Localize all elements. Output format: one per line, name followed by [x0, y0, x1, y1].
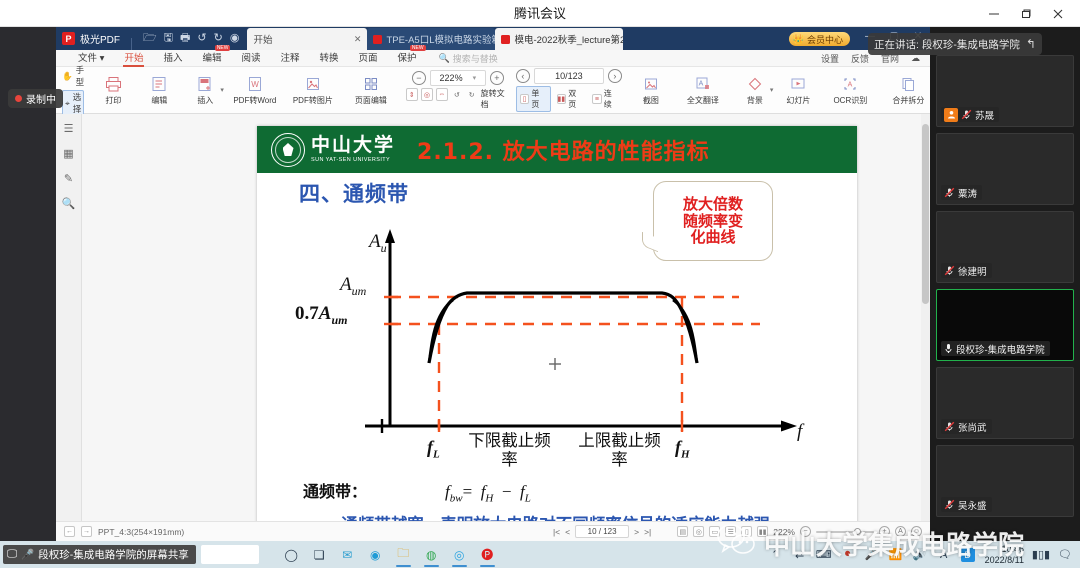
- participant-name: 张尚武: [958, 420, 987, 434]
- svg-text:A: A: [698, 80, 703, 87]
- insert-icon: [196, 75, 214, 93]
- merge-icon: [899, 75, 917, 93]
- slideshow-icon: [789, 75, 807, 93]
- pdf-quick-access-toolbar: 🗁 🖫 🖶 ↺ ↻ ◉: [135, 27, 247, 50]
- thumbnail-list-icon[interactable]: ☰: [61, 120, 77, 136]
- participant-tile-active-speaker[interactable]: 段权珍-集成电路学院: [936, 289, 1074, 361]
- annotation-upper-cutoff: 上限截止频率: [572, 431, 667, 470]
- pdf-ribbon: ✋ 手型 ⌖ 选择 打: [56, 67, 930, 114]
- continuous-label: 连续: [604, 88, 619, 110]
- settings-link[interactable]: 设置: [821, 52, 839, 65]
- print-button[interactable]: 打印: [90, 68, 136, 113]
- y-tick-aum: Aum: [340, 274, 366, 299]
- record-icon[interactable]: ⏺: [841, 548, 855, 562]
- monitor-icon: 🖵: [7, 548, 17, 561]
- tab-document-2[interactable]: 模电-2022秋季_lecture第2... ✕: [495, 28, 623, 50]
- active-speaker-label: 正在讲话: 段权珍-集成电路学院: [874, 37, 1020, 52]
- select-tool-label: 选择: [73, 91, 82, 115]
- background-icon: [746, 75, 764, 93]
- wechat-icon[interactable]: ◎: [451, 546, 468, 563]
- view-double-icon[interactable]: ▮▮: [757, 526, 768, 537]
- chevron-down-icon[interactable]: ▾: [473, 74, 477, 82]
- image-icon: [304, 75, 322, 93]
- mic-on-icon: [944, 343, 953, 354]
- mic-icon[interactable]: 🎤: [865, 548, 879, 562]
- menu-read-label: 阅读: [241, 53, 260, 64]
- clock-date: 2022/8/11: [985, 555, 1024, 565]
- participant-name-chip: 段权珍-集成电路学院: [941, 341, 1050, 356]
- redo-icon[interactable]: ↻: [214, 33, 223, 44]
- participant-name: 粟涛: [958, 186, 977, 200]
- menu-convert-label: 转换: [320, 53, 339, 64]
- participant-tile[interactable]: 粟涛: [936, 133, 1074, 205]
- status-page-value: 10 / 123: [588, 527, 617, 536]
- background-label: 背景: [747, 95, 763, 106]
- tab-document-1-label: TPE-A5口L模拟电路实验箱...: [386, 32, 495, 46]
- sysu-logo-icon: [271, 133, 305, 167]
- reading-mode-icon[interactable]: A: [895, 526, 906, 537]
- participant-name-chip: 苏晟: [941, 107, 999, 122]
- windows-taskbar: 🖵 🎤 段权珍-集成电路学院的屏幕共享 ◯ ❏ ✉ ◉ 🗀 ◍ ◎ 🅟 ⌃ ⇄ …: [0, 541, 1080, 568]
- merge-split-button[interactable]: 合并拆分: [879, 68, 930, 113]
- mic-muted-icon: [961, 109, 972, 120]
- zoom-in-small-icon[interactable]: +: [879, 526, 890, 537]
- participant-tile[interactable]: 徐建明: [936, 211, 1074, 283]
- record-dot-icon: [15, 95, 22, 102]
- new-badge: NEW: [410, 45, 426, 51]
- status-zoom-value: 222%: [773, 527, 795, 537]
- fit-page-icon[interactable]: ◎: [421, 88, 433, 101]
- feedback-link[interactable]: 反馈: [851, 52, 869, 65]
- stats-icon[interactable]: ▮▯▮: [1034, 548, 1048, 562]
- rotate-left-icon[interactable]: ↺: [451, 88, 463, 101]
- fit-width-icon[interactable]: ⇔: [436, 88, 448, 101]
- ocr-icon: A: [841, 75, 859, 93]
- pdf-side-rail: ☰ ▦ ✎ 🔍: [56, 114, 82, 541]
- close-icon[interactable]: ✕: [354, 34, 362, 45]
- slideshow-label: 幻灯片: [786, 95, 810, 106]
- participant-roster: 正在讲话: 段权珍-集成电路学院 ↰ 苏晟: [930, 27, 1080, 541]
- continuous-button[interactable]: ≡ 连续: [589, 87, 622, 111]
- zoom-preset-row: ⇕ ◎ ⇔ ↺ ↻ 旋转文档: [406, 88, 510, 110]
- shared-screen-area: 录制中 P 极光PDF 🗁 🖫 🖶 ↺ ↻: [0, 27, 930, 541]
- single-page-icon: ▯: [520, 94, 530, 104]
- menu-protect-label: 保护: [398, 53, 417, 64]
- page-value: 10/123: [555, 71, 583, 81]
- pdf-to-word-button[interactable]: W PDF转Word: [226, 68, 284, 113]
- first-page-button[interactable]: |<: [553, 527, 560, 537]
- collapse-arrow-icon[interactable]: ↰: [1026, 37, 1036, 51]
- participant-name-chip: 张尚武: [941, 419, 992, 434]
- search-icon[interactable]: 🔍: [61, 195, 77, 211]
- cortana-icon[interactable]: ◯: [283, 546, 300, 563]
- zoom-field[interactable]: 222% ▾: [430, 70, 486, 86]
- edit-doc-icon: [150, 75, 168, 93]
- participant-tile[interactable]: 吴永盛: [936, 445, 1074, 517]
- bandwidth-row: 通频带： fbw= fH − fL: [303, 478, 823, 504]
- x-tick-fh: fH: [675, 437, 690, 461]
- single-page-label: 单页: [531, 88, 546, 110]
- svg-text:A: A: [848, 81, 853, 88]
- next-page-button[interactable]: >: [634, 527, 639, 537]
- crown-icon: 👑: [793, 34, 804, 45]
- page-controls: ‹ 10/123 ›: [516, 68, 622, 84]
- menu-insert-label: 插入: [163, 53, 182, 64]
- menu-edit-label: 编辑: [202, 53, 221, 64]
- slide-body: 四、通频带 放大倍数 随频率变 化曲线: [257, 173, 857, 541]
- volume-icon[interactable]: 🔊: [913, 548, 927, 562]
- pdf-tab-bar: P 极光PDF 🗁 🖫 🖶 ↺ ↻ ◉ 开始 ✕: [56, 27, 930, 50]
- pdf-file-icon: [501, 35, 510, 44]
- fit-height-icon[interactable]: ⇕: [406, 88, 418, 101]
- chevron-down-icon[interactable]: ▾: [220, 86, 224, 94]
- chevron-up-icon[interactable]: ⌃: [769, 548, 783, 562]
- annotation-icon[interactable]: ✎: [61, 170, 77, 186]
- pdf-status-bar: ← → PPT_4:3(254×191mm) |< < 10 / 123 > >…: [56, 521, 930, 541]
- ocr-button[interactable]: A OCR识别: [821, 68, 879, 113]
- x-tick-fl: fL: [427, 437, 440, 461]
- menu-annotate-label: 注释: [281, 53, 300, 64]
- print-icon[interactable]: 🖶: [180, 33, 190, 44]
- onedrive-icon[interactable]: D: [961, 548, 975, 562]
- view-fitwidth-icon[interactable]: ▭: [709, 526, 720, 537]
- page-edit-label: 页面编辑: [355, 95, 387, 106]
- tab-spacer: [623, 27, 788, 50]
- bandwidth-label: 通频带：: [303, 478, 367, 502]
- pdf-file-icon: [373, 35, 382, 44]
- participant-name-chip: 徐建明: [941, 263, 992, 278]
- rotate-document-label[interactable]: 旋转文档: [481, 88, 510, 110]
- screenshot-button[interactable]: 截图: [628, 68, 674, 113]
- grid-icon: [362, 75, 380, 93]
- zoom-in-button[interactable]: +: [490, 71, 504, 85]
- minimize-icon[interactable]: [978, 0, 1010, 27]
- menu-convert[interactable]: 转换: [310, 50, 349, 67]
- screenshot-icon: [642, 75, 660, 93]
- status-right-group: |< < 10 / 123 > >| ▤ ◎ ▭ ☰ ▯ ▮▮: [553, 525, 922, 538]
- meeting-window-title: 腾讯会议: [0, 0, 1080, 27]
- recording-label: 录制中: [26, 91, 56, 106]
- menu-file-label: 文件: [78, 53, 97, 64]
- pdf-to-image-label: PDF转图片: [293, 95, 333, 106]
- pdf-app-logo-icon: P: [62, 32, 75, 45]
- host-icon: [944, 108, 958, 122]
- network-icon[interactable]: 📶: [889, 548, 903, 562]
- tab-home[interactable]: 开始 ✕: [247, 28, 367, 50]
- clock-time: 10:46: [1001, 544, 1024, 554]
- participant-name-chip: 粟涛: [941, 185, 982, 200]
- translate-icon: A: [694, 75, 712, 93]
- menu-insert[interactable]: 插入: [153, 50, 192, 67]
- meeting-body: 录制中 P 极光PDF 🗁 🖫 🖶 ↺ ↻: [0, 27, 1080, 541]
- pdf-to-image-button[interactable]: PDF转图片: [284, 68, 342, 113]
- rotate-right-icon[interactable]: ↻: [466, 88, 478, 101]
- pdf-icon[interactable]: 🅟: [479, 546, 496, 563]
- slide-title: 2.1.2. 放大电路的性能指标: [417, 134, 710, 166]
- menu-edit[interactable]: 编辑NEW: [192, 50, 231, 67]
- taskbar-pinned-apps: ◯ ❏ ✉ ◉ 🗀 ◍ ◎ 🅟: [283, 546, 496, 563]
- settings-icon[interactable]: ⇄: [793, 548, 807, 562]
- single-page-button[interactable]: ▯ 单页: [516, 86, 551, 112]
- mic-icon: 🎤: [21, 548, 34, 561]
- ocr-label: OCR识别: [833, 95, 867, 106]
- pdf-document-viewport[interactable]: 中山大学 SUN YAT-SEN UNIVERSITY 2.1.2. 放大电路的…: [82, 114, 930, 541]
- continuous-icon: ≡: [592, 94, 602, 104]
- screenshot-label: 截图: [643, 95, 659, 106]
- hand-tool-label: 手型: [76, 64, 85, 88]
- view-single-icon[interactable]: ▯: [741, 526, 752, 537]
- chrome-icon[interactable]: ◍: [423, 546, 440, 563]
- participant-name-chip: 吴永盛: [941, 497, 992, 512]
- notification-icon[interactable]: 🗨: [1058, 548, 1072, 562]
- zoom-slider[interactable]: [816, 531, 874, 533]
- taskbar-clock[interactable]: 10:46 2022/8/11: [985, 544, 1024, 565]
- insert-label: 插入: [197, 95, 213, 106]
- slideshow-button[interactable]: 幻灯片: [775, 68, 821, 113]
- menu-read[interactable]: 阅读: [231, 50, 270, 67]
- collapse-right-icon[interactable]: →: [81, 526, 92, 537]
- open-icon[interactable]: 🗁: [143, 33, 157, 44]
- taskview-icon[interactable]: ❏: [311, 546, 328, 563]
- annotation-lower-cutoff: 下限截止频率: [462, 431, 557, 470]
- menu-start[interactable]: 开始: [114, 50, 153, 67]
- vip-label: 会员中心: [807, 33, 843, 46]
- explorer-icon[interactable]: 🗀: [395, 546, 412, 563]
- zoom-controls: − 222% ▾ +: [406, 70, 510, 86]
- menu-page-label: 页面: [359, 53, 378, 64]
- keyboard-icon[interactable]: ⌨: [817, 548, 831, 562]
- edge-icon[interactable]: ◉: [367, 546, 384, 563]
- word-icon: W: [246, 75, 264, 93]
- printer-icon: [104, 75, 122, 93]
- vip-center-button[interactable]: 👑 会员中心: [789, 32, 850, 46]
- tab-document-1[interactable]: TPE-A5口L模拟电路实验箱... ✕: [367, 28, 495, 50]
- university-name-en: SUN YAT-SEN UNIVERSITY: [311, 158, 395, 164]
- edit-button[interactable]: 编辑: [136, 68, 182, 113]
- pdf-to-word-label: PDF转Word: [233, 95, 276, 106]
- new-badge: NEW: [215, 45, 231, 51]
- mic-muted-icon: [944, 421, 955, 432]
- edit-label: 编辑: [151, 95, 167, 106]
- tencent-meeting-titlebar: 腾讯会议: [0, 0, 1080, 27]
- active-speaker-banner: 正在讲话: 段权珍-集成电路学院 ↰: [868, 33, 1042, 55]
- screen-root: 腾讯会议 录制中: [0, 0, 1080, 568]
- screen-share-taskbar-item[interactable]: 🖵 🎤 段权珍-集成电路学院的屏幕共享: [3, 545, 196, 564]
- tab-home-label: 开始: [253, 32, 272, 46]
- participant-tile[interactable]: 张尚武: [936, 367, 1074, 439]
- page-edit-button[interactable]: 页面编辑: [342, 68, 400, 113]
- undo-icon[interactable]: ↺: [197, 33, 206, 44]
- search-placeholder: 搜索与替换: [453, 52, 498, 65]
- menu-page[interactable]: 页面: [349, 50, 388, 67]
- merge-split-label: 合并拆分: [892, 95, 924, 106]
- assistant-icon[interactable]: ☺: [911, 526, 922, 537]
- participant-name: 吴永盛: [958, 498, 987, 512]
- meeting-window-controls: [978, 0, 1074, 27]
- search-icon: 🔍: [439, 53, 450, 64]
- ribbon-group-tools: 截图 A 全文翻译 背景: [628, 67, 930, 114]
- tab-document-2-label: 模电-2022秋季_lecture第2...: [514, 32, 623, 46]
- divider: [131, 38, 132, 50]
- last-page-button[interactable]: >|: [644, 527, 651, 537]
- view-scroll-icon[interactable]: ☰: [725, 526, 736, 537]
- bandwidth-formula: fbw= fH − fL: [445, 482, 531, 504]
- mail-icon[interactable]: ✉: [339, 546, 356, 563]
- document-scrollbar[interactable]: [921, 114, 930, 541]
- collapse-left-icon[interactable]: ←: [64, 526, 75, 537]
- participant-name: 苏晟: [975, 108, 994, 122]
- chart-svg: [257, 173, 857, 503]
- prev-page-button[interactable]: <: [565, 527, 570, 537]
- pdf-brand: P 极光PDF: [56, 27, 128, 50]
- page-field[interactable]: 10/123: [534, 68, 604, 84]
- search-replace-input[interactable]: 🔍 搜索与替换: [439, 52, 498, 65]
- close-icon[interactable]: [1042, 0, 1074, 27]
- zoom-value: 222%: [440, 73, 463, 83]
- avatar: [982, 146, 1028, 192]
- chevron-down-icon[interactable]: ▾: [770, 86, 774, 94]
- double-page-icon: ▮▮: [557, 94, 567, 104]
- mic-muted-icon: [944, 187, 955, 198]
- view-fullpage-icon[interactable]: ◎: [693, 526, 704, 537]
- select-tool[interactable]: ⌖ 选择: [62, 90, 84, 116]
- double-page-button[interactable]: ▮▮ 双页: [554, 87, 587, 111]
- status-page-field[interactable]: 10 / 123: [575, 525, 629, 538]
- frequency-response-chart: Au Aum 0.7Aum f fL fH 下限截止频率 上限截止频率: [257, 173, 857, 503]
- thumbnail-grid-icon[interactable]: ▦: [61, 145, 77, 161]
- slide-page: 中山大学 SUN YAT-SEN UNIVERSITY 2.1.2. 放大电路的…: [257, 126, 857, 541]
- zoom-group: − 222% ▾ + ⇕ ◎ ⇔ ↺ ↻: [406, 70, 510, 110]
- x-axis-label: f: [797, 421, 802, 443]
- slide-header: 中山大学 SUN YAT-SEN UNIVERSITY 2.1.2. 放大电路的…: [257, 126, 857, 173]
- zoom-slider-knob[interactable]: [854, 528, 861, 535]
- next-page-button[interactable]: ›: [608, 69, 622, 83]
- participant-name: 徐建明: [958, 264, 987, 278]
- pdf-brand-label: 极光PDF: [80, 31, 120, 46]
- university-name: 中山大学 SUN YAT-SEN UNIVERSITY: [311, 136, 395, 164]
- hand-icon: ✋: [62, 71, 73, 82]
- save-icon[interactable]: 🖫: [164, 33, 173, 44]
- cursor-icon: ⌖: [65, 98, 70, 109]
- pdf-menu-bar: 文件 ▾ 开始 插入 编辑NEW 阅读 注释 转换 页面 保护NEW 🔍 搜索与…: [56, 50, 930, 67]
- ribbon-group-main: 打印 编辑 插入: [90, 67, 400, 114]
- page-nav-group: ‹ 10/123 › ▯ 单页 ▮▮: [516, 68, 622, 112]
- menu-annotate[interactable]: 注释: [271, 50, 310, 67]
- translate-label: 全文翻译: [687, 95, 719, 106]
- hand-tool[interactable]: ✋ 手型: [62, 64, 84, 88]
- mic-muted-icon: [944, 499, 955, 510]
- menu-start-label: 开始: [124, 53, 143, 64]
- ime-icon[interactable]: A: [937, 548, 951, 562]
- page-size-label: PPT_4:3(254×191mm): [98, 527, 184, 537]
- participant-tile[interactable]: 苏晟: [936, 55, 1074, 127]
- history-icon[interactable]: ◉: [230, 33, 240, 44]
- system-tray: ⌃ ⇄ ⌨ ⏺ 🎤 📶 🔊 A D 10:46 2022/8/11 ▮▯▮ 🗨: [769, 544, 1080, 565]
- mic-muted-icon: [944, 265, 955, 276]
- taskbar-search-box[interactable]: [201, 545, 259, 564]
- view-mode-row: ▯ 单页 ▮▮ 双页 ≡ 连续: [516, 86, 622, 112]
- university-name-cn: 中山大学: [311, 136, 395, 155]
- y-axis-label: Au: [369, 231, 387, 256]
- previous-page-button[interactable]: ‹: [516, 69, 530, 83]
- recording-indicator: 录制中: [8, 89, 63, 108]
- screen-share-label: 段权珍-集成电路学院的屏幕共享: [38, 547, 189, 562]
- double-page-label: 双页: [568, 88, 583, 110]
- menu-protect[interactable]: 保护NEW: [388, 50, 427, 67]
- view-fit-icon[interactable]: ▤: [677, 526, 688, 537]
- svg-text:W: W: [251, 80, 259, 89]
- restore-icon[interactable]: [1010, 0, 1042, 27]
- participant-name: 段权珍-集成电路学院: [956, 342, 1045, 356]
- scrollbar-thumb[interactable]: [922, 124, 929, 304]
- y-tick-07aum: 0.7Aum: [295, 303, 347, 328]
- translate-button[interactable]: A 全文翻译: [674, 68, 732, 113]
- zoom-out-small-icon[interactable]: −: [800, 526, 811, 537]
- zoom-out-button[interactable]: −: [412, 71, 426, 85]
- print-label: 打印: [105, 95, 121, 106]
- pdf-reader-window: P 极光PDF 🗁 🖫 🖶 ↺ ↻ ◉ 开始 ✕: [56, 27, 930, 541]
